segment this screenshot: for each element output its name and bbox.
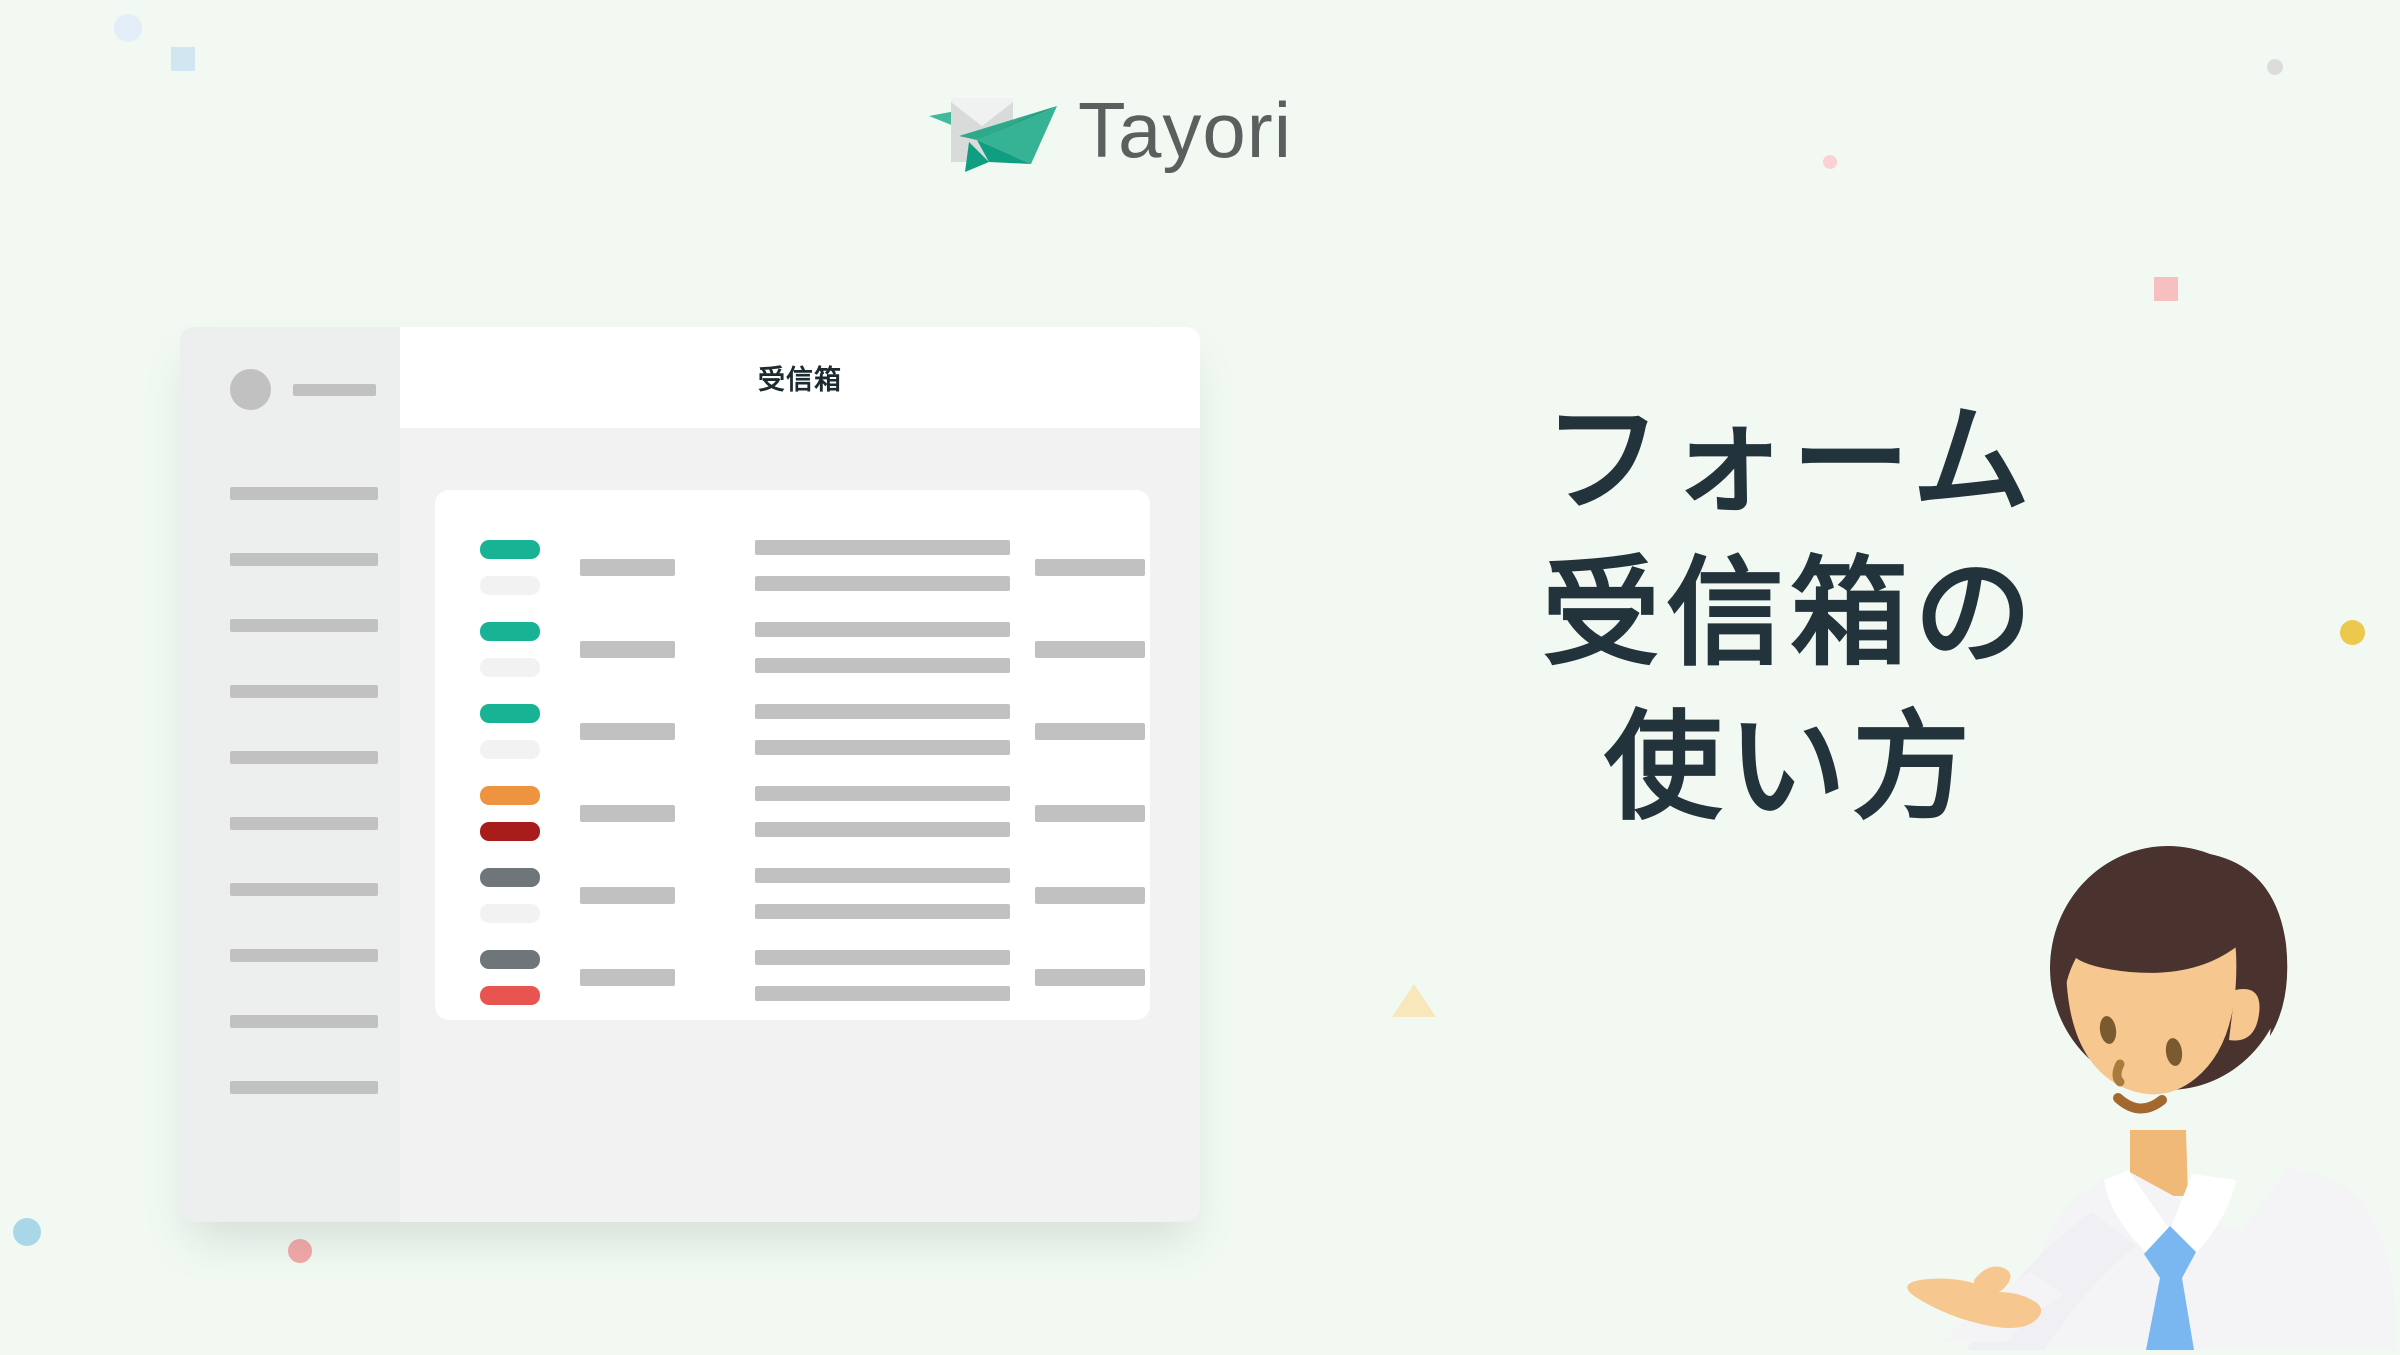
headline-line-2: 受信箱の (1455, 538, 2125, 691)
app-main: 受信箱 (400, 327, 1200, 1222)
row-col-assignee-placeholder (1035, 805, 1145, 822)
row-status-tag-secondary (480, 576, 540, 595)
deco-square-blue-top-left (171, 47, 195, 71)
sidebar-nav-item-7[interactable] (230, 883, 378, 896)
avatar (230, 369, 271, 410)
sidebar-nav-item-5[interactable] (230, 751, 378, 764)
sidebar-nav-item-3[interactable] (230, 619, 378, 632)
row-col-date-placeholder (580, 805, 675, 822)
sidebar-nav-item-4[interactable] (230, 685, 378, 698)
page-title: 受信箱 (758, 358, 842, 397)
deco-circle-yellow-right (2340, 620, 2365, 645)
inbox-row[interactable] (435, 532, 1150, 604)
sidebar-nav-item-9[interactable] (230, 1015, 378, 1028)
row-col-assignee-placeholder (1035, 559, 1145, 576)
row-col-subject-line-1 (755, 622, 1010, 637)
row-col-subject-line-2 (755, 576, 1010, 591)
presenting-businessman-illustration (1830, 840, 2400, 1350)
row-status-tag-primary (480, 540, 540, 559)
inbox-list-card (435, 490, 1150, 1020)
row-status-tag-secondary (480, 740, 540, 759)
row-col-subject-line-1 (755, 540, 1010, 555)
deco-circle-pink-bottom-left (288, 1239, 312, 1263)
tayori-logo: Tayori (925, 80, 1292, 180)
row-col-subject-line-1 (755, 950, 1010, 965)
deco-square-pink-right (2154, 277, 2178, 301)
inbox-row[interactable] (435, 860, 1150, 932)
row-status-tag-primary (480, 622, 540, 641)
logo-wordmark: Tayori (1078, 91, 1292, 169)
row-col-assignee-placeholder (1035, 641, 1145, 658)
sidebar-nav-item-1[interactable] (230, 487, 378, 500)
headline-line-1: フォーム (1455, 385, 2125, 538)
row-col-assignee-placeholder (1035, 723, 1145, 740)
banner-stage: Tayori 受信箱 フォーム 受信箱の 使い方 (0, 0, 2400, 1350)
sidebar-profile-name-placeholder (293, 384, 376, 396)
row-col-subject-line-2 (755, 904, 1010, 919)
sidebar-nav-item-2[interactable] (230, 553, 378, 566)
deco-circle-blue-top-left (114, 14, 142, 42)
row-col-assignee-placeholder (1035, 887, 1145, 904)
row-status-tag-primary (480, 786, 540, 805)
inbox-row[interactable] (435, 696, 1150, 768)
row-status-tag-secondary (480, 822, 540, 841)
inbox-row[interactable] (435, 942, 1150, 1014)
row-col-subject-line-2 (755, 658, 1010, 673)
row-col-subject-line-1 (755, 704, 1010, 719)
sidebar-nav-item-10[interactable] (230, 1081, 378, 1094)
headline: フォーム 受信箱の 使い方 (1455, 385, 2125, 845)
app-main-header: 受信箱 (400, 327, 1200, 428)
row-col-date-placeholder (580, 887, 675, 904)
deco-circle-gray-top-right (2267, 59, 2283, 75)
inbox-row[interactable] (435, 778, 1150, 850)
row-status-tag-secondary (480, 658, 540, 677)
sidebar-profile[interactable] (230, 369, 376, 410)
headline-line-3: 使い方 (1455, 692, 2125, 845)
row-col-date-placeholder (580, 723, 675, 740)
app-sidebar (180, 327, 400, 1222)
row-status-tag-secondary (480, 904, 540, 923)
app-window-mockup: 受信箱 (180, 327, 1200, 1222)
inbox-row[interactable] (435, 614, 1150, 686)
sidebar-nav (230, 487, 378, 1147)
row-col-subject-line-2 (755, 822, 1010, 837)
sidebar-nav-item-6[interactable] (230, 817, 378, 830)
row-col-subject-line-2 (755, 740, 1010, 755)
row-status-tag-primary (480, 950, 540, 969)
envelope-paper-plane-logo-icon (925, 80, 1060, 180)
row-col-date-placeholder (580, 559, 675, 576)
row-col-assignee-placeholder (1035, 969, 1145, 986)
deco-dot-pink-top-mid (1823, 155, 1837, 169)
row-status-tag-secondary (480, 986, 540, 1005)
app-main-body (400, 428, 1200, 1222)
row-col-subject-line-2 (755, 986, 1010, 1001)
row-status-tag-primary (480, 704, 540, 723)
sidebar-nav-item-8[interactable] (230, 949, 378, 962)
row-col-subject-line-1 (755, 786, 1010, 801)
row-col-subject-line-1 (755, 868, 1010, 883)
row-col-date-placeholder (580, 641, 675, 658)
deco-circle-blue-bottom-left (13, 1218, 41, 1246)
deco-triangle-yellow-mid (1392, 984, 1436, 1017)
row-col-date-placeholder (580, 969, 675, 986)
row-status-tag-primary (480, 868, 540, 887)
